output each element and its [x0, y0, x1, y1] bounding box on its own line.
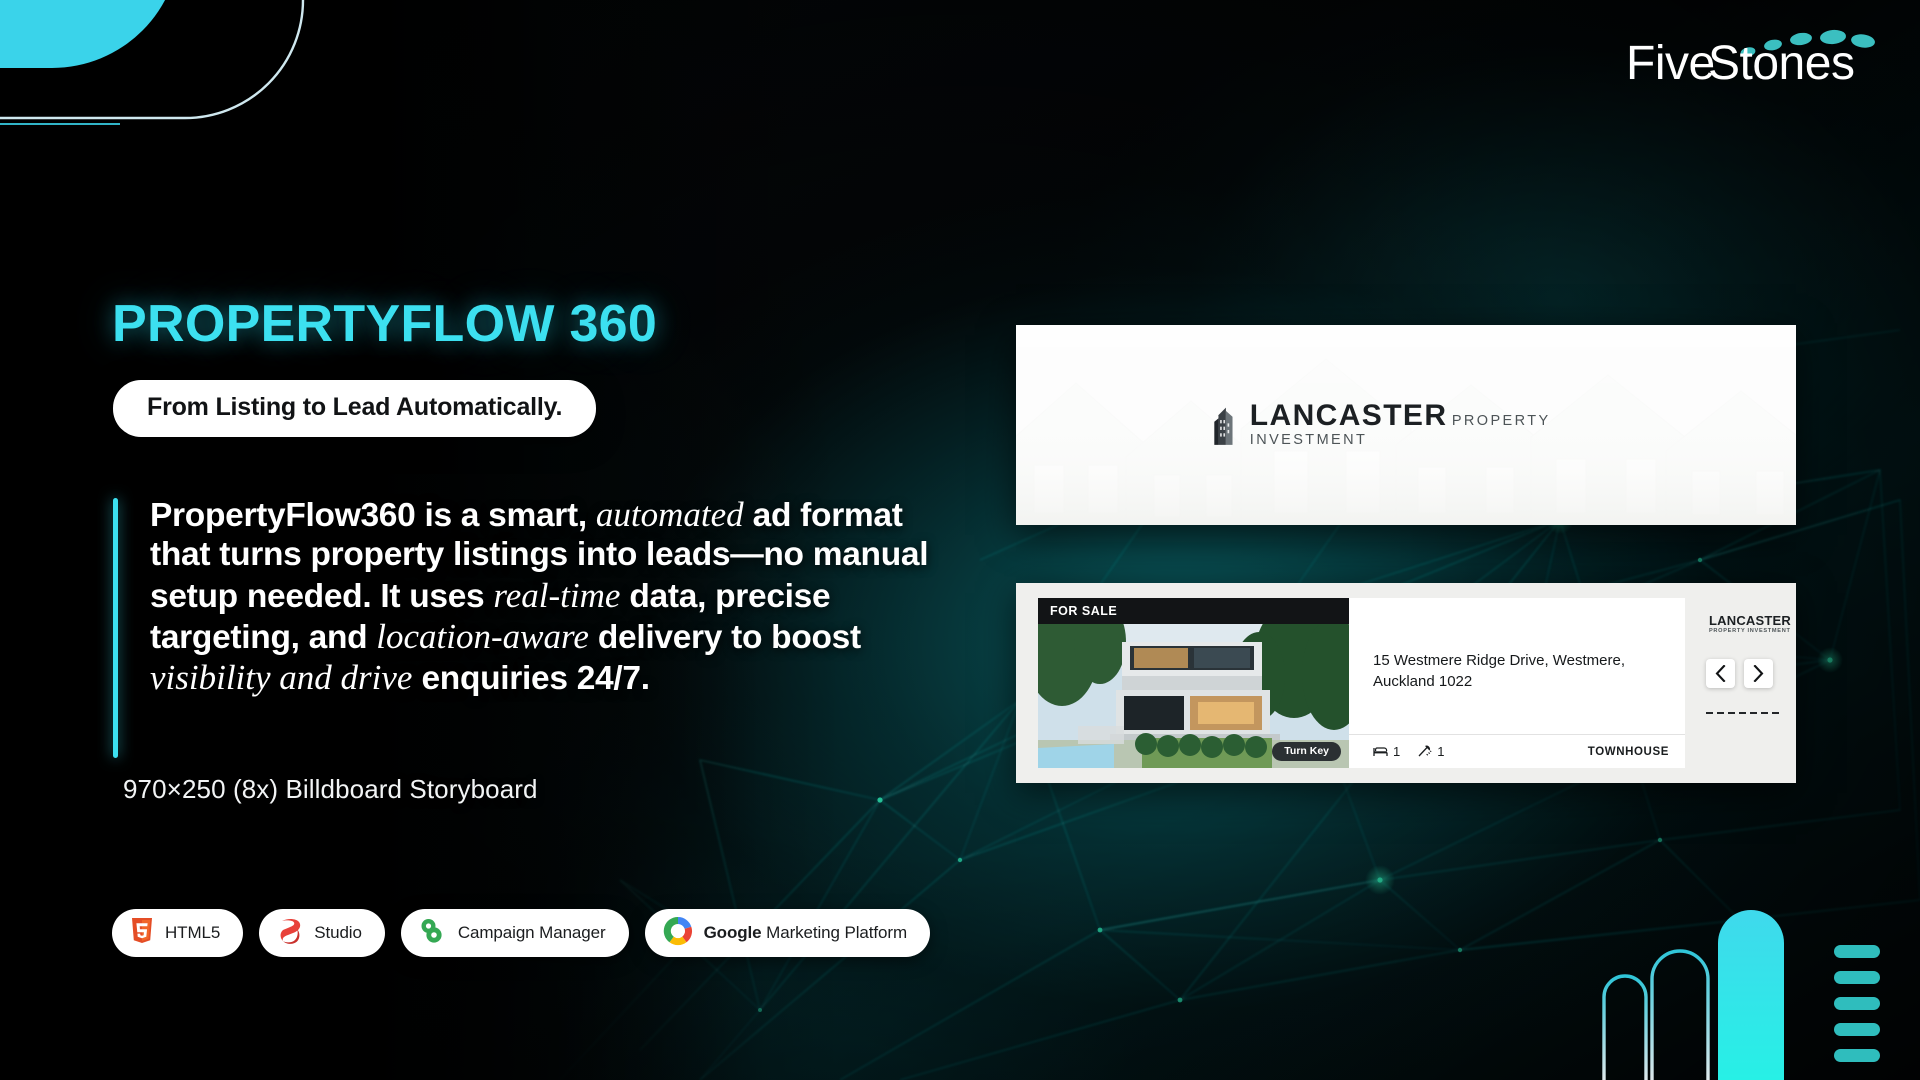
technology-badge-row: HTML5 Studio Campaign Manager — [112, 909, 930, 957]
bedrooms-count: 1 — [1393, 744, 1400, 759]
corner-accent-decoration — [0, 0, 330, 130]
carousel-dash[interactable] — [1728, 712, 1735, 715]
body-emphasis: location-aware — [376, 617, 589, 656]
body-paragraph-block: PropertyFlow360 is a smart, automated ad… — [113, 494, 933, 699]
html5-icon — [130, 917, 154, 950]
listing-address: 15 Westmere Ridge Drive, Westmere, Auckl… — [1373, 650, 1667, 693]
listing-card[interactable]: FOR SALE Turn Key 15 Westmere Ridge Driv… — [1038, 598, 1685, 768]
accent-bar — [113, 498, 118, 758]
badge-label: Google Marketing Platform — [704, 923, 907, 943]
listing-photo: FOR SALE Turn Key — [1038, 598, 1349, 768]
body-run: enquiries 24/7. — [412, 660, 649, 697]
ad-banner-listing-frame[interactable]: FOR SALE Turn Key 15 Westmere Ridge Driv… — [1016, 583, 1796, 783]
svg-text:Five: Five — [1626, 37, 1715, 86]
page-title: PROPERTYFLOW 360 — [112, 294, 657, 354]
body-paragraph: PropertyFlow360 is a smart, automated ad… — [150, 494, 933, 699]
bar-segment — [1834, 1023, 1880, 1036]
carousel-dash[interactable] — [1706, 712, 1713, 715]
badge-campaign-manager[interactable]: Campaign Manager — [401, 909, 629, 957]
carousel-progress-dashes[interactable] — [1706, 712, 1786, 715]
badge-label-rest: Marketing Platform — [762, 923, 907, 942]
subtitle-pill: From Listing to Lead Automatically. — [113, 380, 596, 437]
bathrooms-count: 1 — [1437, 744, 1444, 759]
turn-key-badge: Turn Key — [1272, 742, 1341, 761]
studio-icon — [277, 917, 303, 950]
badge-html5[interactable]: HTML5 — [112, 909, 243, 957]
bathrooms-spec: 1 — [1417, 744, 1444, 759]
listing-side-panel: LANCASTER PROPERTY INVESTMENT — [1706, 598, 1786, 768]
property-type-label: TOWNHOUSE — [1588, 746, 1669, 758]
badge-label: Campaign Manager — [458, 923, 606, 943]
carousel-next-button[interactable] — [1744, 659, 1773, 688]
body-run: PropertyFlow360 is a smart, — [150, 497, 596, 534]
fivestones-logo: Five Stones — [1626, 24, 1876, 86]
carousel-controls — [1706, 659, 1786, 688]
body-emphasis: visibility and drive — [150, 658, 412, 697]
carousel-dash[interactable] — [1717, 712, 1724, 715]
carousel-dash[interactable] — [1750, 712, 1757, 715]
chevron-left-icon — [1715, 665, 1726, 682]
carousel-dash[interactable] — [1761, 712, 1768, 715]
body-emphasis: real-time — [493, 576, 620, 615]
bed-icon — [1373, 745, 1388, 758]
format-caption: 970×250 (8x) Billdboard Storyboard — [123, 774, 538, 805]
google-icon — [663, 916, 693, 951]
badge-label: HTML5 — [165, 923, 220, 943]
slide-canvas: Five Stones PROPERTYFLOW 360 From Listin… — [0, 0, 1920, 1080]
carousel-prev-button[interactable] — [1706, 659, 1735, 688]
for-sale-badge: FOR SALE — [1038, 598, 1349, 624]
badge-google-marketing-platform[interactable]: Google Marketing Platform — [645, 909, 930, 957]
listing-spec-footer: 1 1 TOWNHOUSE — [1349, 734, 1685, 768]
stacked-bars-decoration — [1834, 945, 1880, 1062]
bar-segment — [1834, 1049, 1880, 1062]
listing-info-panel: 15 Westmere Ridge Drive, Westmere, Auckl… — [1349, 598, 1685, 768]
bar-segment — [1834, 971, 1880, 984]
lancaster-logo-small: LANCASTER PROPERTY INVESTMENT — [1706, 614, 1786, 635]
bar-segment — [1834, 945, 1880, 958]
body-run: delivery to boost — [589, 619, 861, 656]
carousel-dash[interactable] — [1739, 712, 1746, 715]
chevron-right-icon — [1753, 665, 1764, 682]
svg-text:Stones: Stones — [1708, 37, 1854, 86]
lancaster-brand-tagline-small: PROPERTY INVESTMENT — [1709, 629, 1791, 635]
badge-label: Studio — [314, 923, 362, 943]
bedrooms-spec: 1 — [1373, 744, 1400, 759]
campaign-manager-icon — [419, 918, 447, 949]
lancaster-brand-name: LANCASTER — [1250, 399, 1448, 432]
badge-studio[interactable]: Studio — [259, 909, 385, 957]
bar-segment — [1834, 997, 1880, 1010]
badge-label-bold: Google — [704, 923, 762, 942]
ad-banner-brand-frame[interactable]: LANCASTER PROPERTY INVESTMENT — [1016, 325, 1796, 525]
lancaster-building-icon — [1211, 399, 1241, 451]
shower-icon — [1417, 745, 1432, 758]
carousel-dash[interactable] — [1772, 712, 1779, 715]
lancaster-logo: LANCASTER PROPERTY INVESTMENT — [1211, 399, 1601, 451]
lancaster-brand-name-small: LANCASTER — [1709, 614, 1791, 627]
body-emphasis: automated — [596, 495, 744, 534]
